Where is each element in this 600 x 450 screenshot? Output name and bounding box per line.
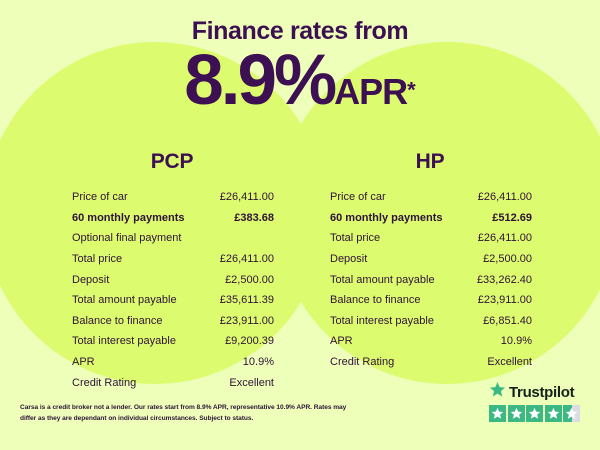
column-title-pcp: PCP xyxy=(56,150,288,174)
finance-column-hp: HP Price of car£26,411.0060 monthly paym… xyxy=(314,150,546,372)
row-label: Total interest payable xyxy=(330,314,434,328)
row-label: Total price xyxy=(330,231,380,245)
row-label: Optional final payment xyxy=(72,231,181,245)
finance-column-pcp: PCP Price of car£26,411.0060 monthly pay… xyxy=(56,150,288,393)
table-row: 60 monthly payments£512.69 xyxy=(330,208,532,229)
row-value: Excellent xyxy=(487,355,532,369)
row-value: £2,500.00 xyxy=(225,273,274,287)
row-label: Total interest payable xyxy=(72,334,176,348)
row-value: £6,851.40 xyxy=(483,314,532,328)
row-label: Balance to finance xyxy=(72,314,163,328)
table-row: Optional final payment xyxy=(72,228,274,249)
table-row: APR10.9% xyxy=(72,352,274,373)
row-value: Excellent xyxy=(229,376,274,390)
row-value: £26,411.00 xyxy=(478,231,532,245)
trustpilot-star-icon xyxy=(545,405,562,422)
trustpilot-star-icon xyxy=(489,381,506,403)
table-row: Total interest payable£9,200.39 xyxy=(72,331,274,352)
table-row: Price of car£26,411.00 xyxy=(330,187,532,208)
trustpilot-logo: Trustpilot xyxy=(489,383,589,401)
finance-rates-poster: Finance rates from 8.9%APR* PCP Price of… xyxy=(0,0,600,450)
pcp-rows: Price of car£26,411.0060 monthly payment… xyxy=(56,187,288,393)
row-label: Credit Rating xyxy=(330,355,394,369)
table-row: Credit RatingExcellent xyxy=(72,372,274,393)
rate-unit: APR xyxy=(334,71,407,112)
disclaimer-text: Carsa is a credit broker not a lender. O… xyxy=(20,403,350,424)
row-value: £23,911.00 xyxy=(478,293,532,307)
row-value: £383.68 xyxy=(234,211,274,225)
table-row: Total price£26,411.00 xyxy=(330,228,532,249)
row-label: Price of car xyxy=(330,190,386,204)
table-row: Deposit£2,500.00 xyxy=(72,269,274,290)
row-value: £9,200.39 xyxy=(225,334,274,348)
row-value: £33,262.40 xyxy=(477,273,532,287)
row-value: £23,911.00 xyxy=(220,314,274,328)
table-row: Total price£26,411.00 xyxy=(72,249,274,270)
row-label: Total amount payable xyxy=(72,293,177,307)
row-label: Total price xyxy=(72,252,122,266)
row-value: £2,500.00 xyxy=(483,252,532,266)
headline-rate: 8.9%APR* xyxy=(0,45,600,116)
row-label: 60 monthly payments xyxy=(72,211,184,225)
row-value: £512.69 xyxy=(492,211,532,225)
trustpilot-star-icon xyxy=(489,405,506,422)
row-label: 60 monthly payments xyxy=(330,211,442,225)
row-label: Deposit xyxy=(330,252,367,266)
row-label: Price of car xyxy=(72,190,128,204)
table-row: Balance to finance£23,911.00 xyxy=(72,311,274,332)
row-label: Deposit xyxy=(72,273,109,287)
row-label: APR xyxy=(330,334,353,348)
row-value: 10.9% xyxy=(501,334,532,348)
row-value: £26,411.00 xyxy=(220,190,274,204)
row-value: £26,411.00 xyxy=(478,190,532,204)
row-label: APR xyxy=(72,355,95,369)
row-label: Balance to finance xyxy=(330,293,421,307)
table-row: Deposit£2,500.00 xyxy=(330,249,532,270)
table-row: Total interest payable£6,851.40 xyxy=(330,311,532,332)
table-row: Credit RatingExcellent xyxy=(330,352,532,373)
row-value: £26,411.00 xyxy=(220,252,274,266)
row-value: £35,611.39 xyxy=(220,293,274,307)
table-row: 60 monthly payments£383.68 xyxy=(72,208,274,229)
rate-value: 8.9% xyxy=(184,41,334,120)
table-row: APR10.9% xyxy=(330,331,532,352)
row-value: 10.9% xyxy=(243,355,274,369)
column-title-hp: HP xyxy=(314,150,546,174)
trustpilot-star-rating xyxy=(489,405,589,422)
hp-rows: Price of car£26,411.0060 monthly payment… xyxy=(314,187,546,372)
trustpilot-star-icon xyxy=(563,405,580,422)
trustpilot-widget[interactable]: Trustpilot xyxy=(489,383,589,422)
table-row: Total amount payable£35,611.39 xyxy=(72,290,274,311)
rate-asterisk: * xyxy=(407,78,416,103)
row-label: Credit Rating xyxy=(72,376,136,390)
table-row: Price of car£26,411.00 xyxy=(72,187,274,208)
row-label: Total amount payable xyxy=(330,273,435,287)
table-row: Balance to finance£23,911.00 xyxy=(330,290,532,311)
table-row: Total amount payable£33,262.40 xyxy=(330,269,532,290)
trustpilot-star-icon xyxy=(526,405,543,422)
trustpilot-wordmark: Trustpilot xyxy=(509,384,574,401)
trustpilot-star-icon xyxy=(508,405,525,422)
